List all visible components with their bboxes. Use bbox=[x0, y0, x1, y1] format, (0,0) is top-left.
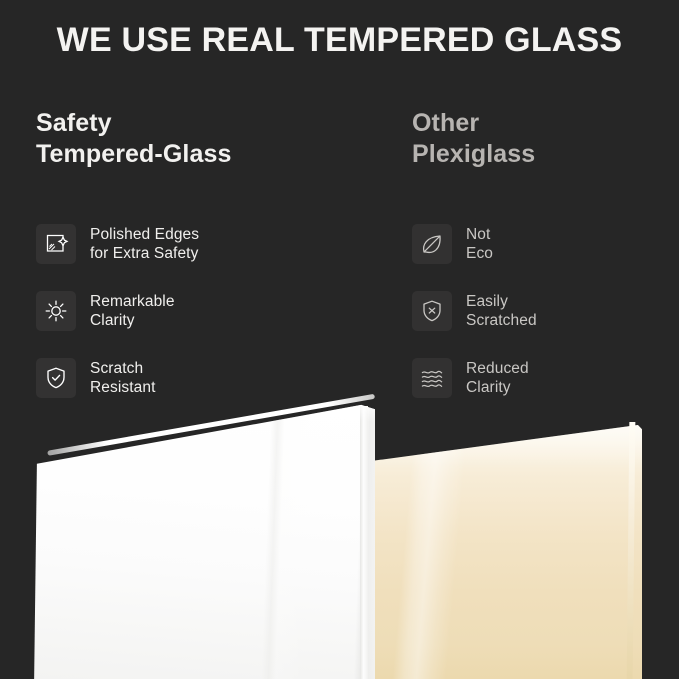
column-title: Safety Tempered-Glass bbox=[36, 108, 366, 170]
feature-label: Reduced Clarity bbox=[466, 359, 529, 397]
plexiglass-panel bbox=[370, 392, 642, 679]
shield-x-icon bbox=[412, 291, 452, 331]
feature-label: Easily Scratched bbox=[466, 292, 537, 330]
feature-label: Scratch Resistant bbox=[90, 359, 156, 397]
leaf-slash-icon bbox=[412, 224, 452, 264]
feature-list: Polished Edges for Extra Safety Remarkab… bbox=[36, 210, 366, 411]
polished-edges-icon bbox=[36, 224, 76, 264]
tempered-glass-panel bbox=[30, 392, 375, 679]
column-title: Other Plexiglass bbox=[412, 108, 672, 170]
feature-row-not-eco: Not Eco bbox=[412, 210, 672, 277]
glass-panels-photo bbox=[0, 392, 679, 679]
feature-label: Remarkable Clarity bbox=[90, 292, 175, 330]
page-title: WE USE REAL TEMPERED GLASS bbox=[0, 20, 679, 60]
column-safety-tempered-glass: Safety Tempered-Glass Polished Edges for… bbox=[36, 108, 366, 170]
feature-label: Polished Edges for Extra Safety bbox=[90, 225, 199, 263]
feature-row-remarkable-clarity: Remarkable Clarity bbox=[36, 277, 366, 344]
brightness-sun-icon bbox=[36, 291, 76, 331]
feature-list: Not Eco Easily Scratched bbox=[412, 210, 672, 411]
feature-label: Not Eco bbox=[466, 225, 493, 263]
feature-row-easily-scratched: Easily Scratched bbox=[412, 277, 672, 344]
feature-row-polished-edges: Polished Edges for Extra Safety bbox=[36, 210, 366, 277]
comparison-infographic: WE USE REAL TEMPERED GLASS Safety Temper… bbox=[0, 0, 679, 679]
column-other-plexiglass: Other Plexiglass Not Eco bbox=[412, 108, 672, 170]
